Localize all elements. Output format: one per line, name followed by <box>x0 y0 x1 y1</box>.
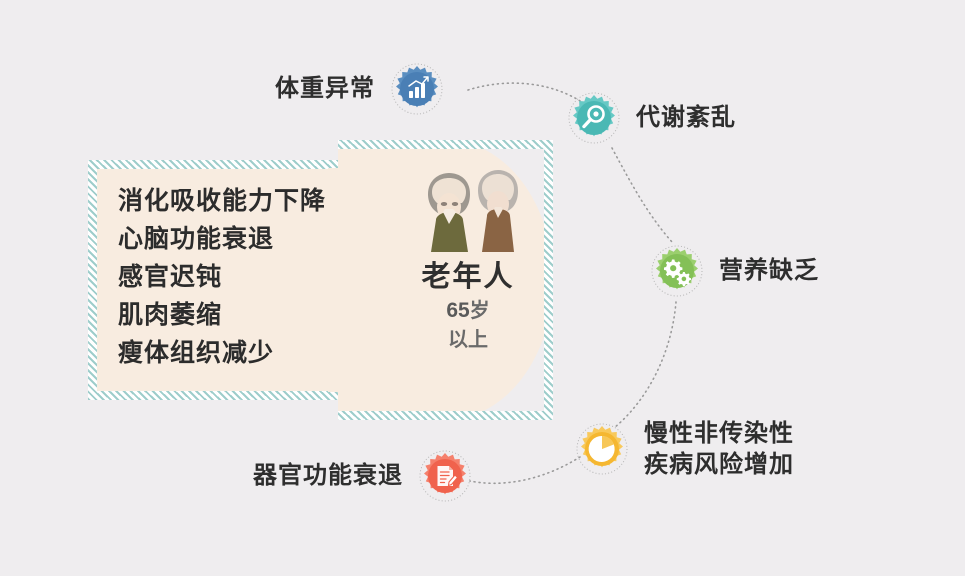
symptom-item: 瘦体组织减少 <box>118 334 368 372</box>
node-nutrition-label: 营养缺乏 <box>719 256 819 286</box>
node-weight-label: 体重异常 <box>275 74 375 104</box>
symptom-item: 感官迟钝 <box>118 258 368 296</box>
central-persona-panel: 消化吸收能力下降 心脑功能衰退 感官迟钝 肌肉萎缩 瘦体组织减少 <box>88 140 558 420</box>
persona-block: 老年人 65岁 以上 <box>393 162 543 355</box>
document-pen-icon[interactable] <box>419 450 471 502</box>
node-metabolic-disorder[interactable]: 代谢紊乱 <box>568 92 736 144</box>
persona-age: 65岁 <box>393 296 543 326</box>
symptom-list: 消化吸收能力下降 心脑功能衰退 感官迟钝 肌肉萎缩 瘦体组织减少 <box>118 182 368 372</box>
node-chronic-label-line1: 慢性非传染性 <box>644 418 794 449</box>
persona-age-unit: 岁 <box>470 300 490 322</box>
connector-metabolic-nutrition <box>612 148 672 242</box>
node-organ-decline[interactable]: 器官功能衰退 <box>253 450 471 502</box>
gears-icon[interactable] <box>651 245 703 297</box>
node-chronic-label-line2: 疾病风险增加 <box>644 449 794 480</box>
connector-chronic-organ <box>470 457 580 483</box>
elderly-couple-icon <box>408 162 528 252</box>
magnifier-icon[interactable] <box>568 92 620 144</box>
bar-chart-icon[interactable] <box>391 63 443 115</box>
node-chronic-label: 慢性非传染性 疾病风险增加 <box>644 418 794 480</box>
symptom-item: 肌肉萎缩 <box>118 296 368 334</box>
node-chronic-disease-risk[interactable]: 慢性非传染性 疾病风险增加 <box>576 418 794 480</box>
pie-chart-icon[interactable] <box>576 423 628 475</box>
node-metabolic-label: 代谢紊乱 <box>636 103 736 133</box>
infographic-canvas: 消化吸收能力下降 心脑功能衰退 感官迟钝 肌肉萎缩 瘦体组织减少 <box>0 0 965 576</box>
persona-title: 老年人 <box>393 258 543 296</box>
symptom-item: 心脑功能衰退 <box>118 220 368 258</box>
symptom-item: 消化吸收能力下降 <box>118 182 368 220</box>
node-nutrition-deficiency[interactable]: 营养缺乏 <box>651 245 819 297</box>
connector-nutrition-chronic <box>614 302 676 428</box>
node-organ-label: 器官功能衰退 <box>253 461 403 491</box>
persona-age-suffix: 以上 <box>393 326 543 355</box>
persona-age-number: 65 <box>446 299 469 322</box>
node-weight-abnormal[interactable]: 体重异常 <box>275 63 443 115</box>
